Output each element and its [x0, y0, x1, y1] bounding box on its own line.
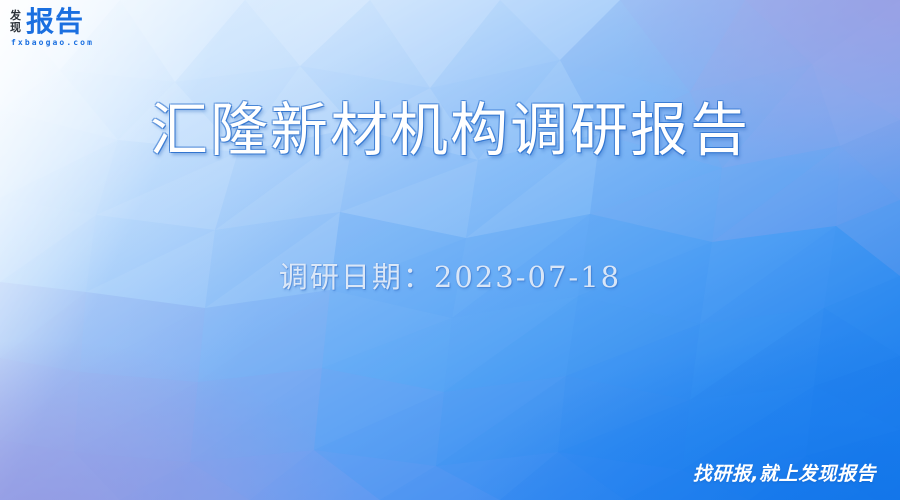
report-cover-slide: 发 现 报告 fxbaogao.com 汇隆新材机构调研报告 调研日期：2023… — [0, 0, 900, 500]
low-poly-background — [0, 0, 900, 500]
brand-wordmark: 报告 — [26, 8, 84, 36]
brand-mark-faxian: 发 现 — [10, 10, 21, 34]
brand-logo-row: 发 现 报告 — [10, 8, 84, 36]
brand-logo[interactable]: 发 现 报告 fxbaogao.com — [10, 8, 94, 48]
brand-tagline: 找研报,就上发现报告 — [693, 462, 876, 486]
brand-url: fxbaogao.com — [11, 38, 94, 48]
brand-mark-char-bottom: 现 — [10, 22, 21, 34]
